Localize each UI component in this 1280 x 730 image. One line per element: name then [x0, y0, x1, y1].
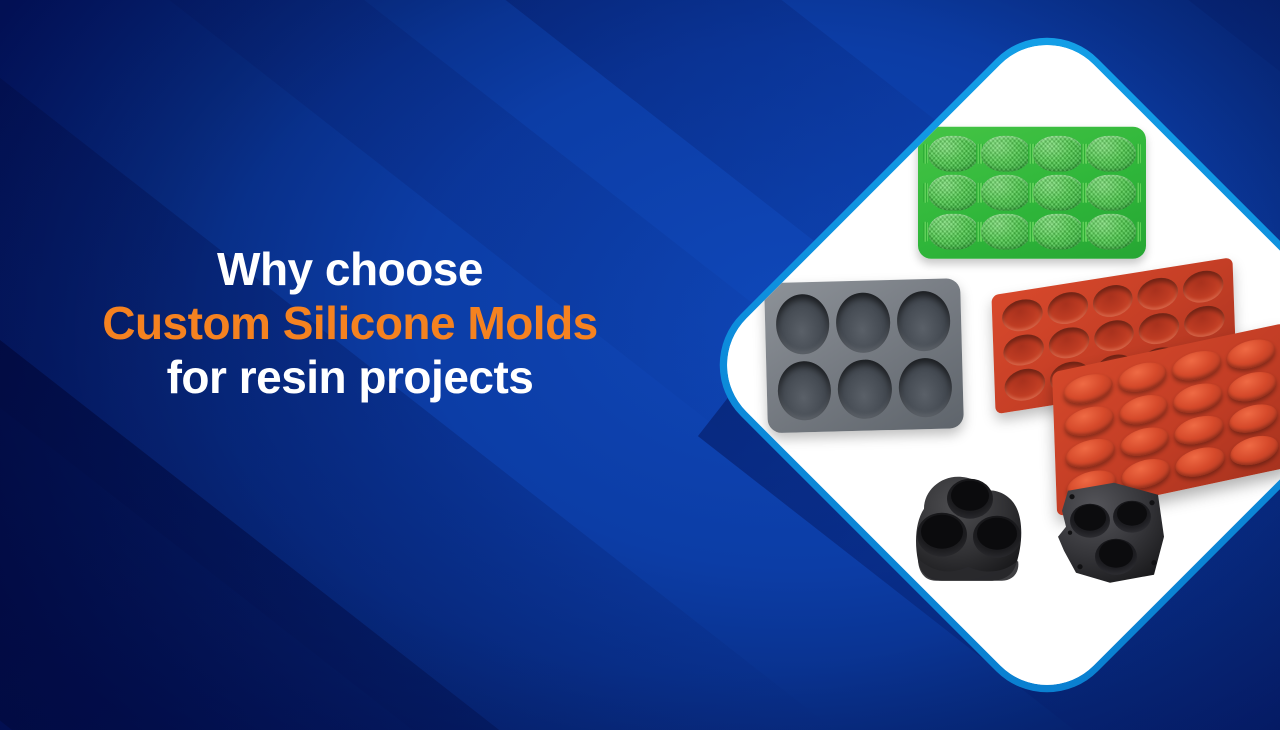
mold-cavity [1002, 296, 1043, 333]
mold-cavity [1120, 422, 1169, 459]
mold-cavity [928, 213, 979, 249]
mold-cavity [1065, 434, 1114, 471]
mold-cavity [1175, 443, 1224, 480]
mold-cavity [1173, 378, 1222, 415]
mold-cavity [1048, 324, 1089, 361]
mold-cavity [1064, 401, 1113, 438]
mold-cavity [1228, 399, 1277, 436]
mold-cavity [1086, 174, 1137, 210]
mold-cavity [1227, 367, 1276, 404]
mold-cavity [1139, 309, 1180, 346]
mold-cavity [1003, 331, 1044, 368]
mold-cavity [1119, 390, 1168, 427]
headline-line-3: for resin projects [0, 351, 700, 405]
mold-cavity [836, 291, 891, 352]
mold-cavity [928, 174, 979, 210]
mold-cavity [1184, 302, 1225, 339]
mold-cavity [1226, 335, 1275, 372]
mold-cavity [981, 174, 1032, 210]
mold-cavity [1033, 213, 1084, 249]
mold-cavity [928, 135, 979, 171]
diamond-photo-mask [700, 18, 1280, 712]
mold-cavity [777, 359, 832, 420]
product-photo-panel [700, 18, 1280, 712]
mold-cavity [981, 135, 1032, 171]
headline-block: Why choose Custom Silicone Molds for res… [0, 243, 700, 404]
product-photo-collage [700, 18, 1280, 712]
mold-cavity [1033, 135, 1084, 171]
headline-line-2-highlight: Custom Silicone Molds [0, 297, 700, 351]
mold-cavity [898, 356, 953, 417]
mold-cavity [1174, 411, 1223, 448]
mold-cavity [1093, 316, 1134, 353]
mold-cavity [896, 290, 951, 351]
mold-cavity [1092, 281, 1133, 318]
black-rubber-three-port-part [906, 468, 1032, 584]
mold-cavity [837, 358, 892, 419]
mold-cavity [1172, 346, 1221, 383]
mold-cavity [981, 213, 1032, 249]
mold-cavity [1047, 289, 1088, 326]
mold-cavity [1117, 358, 1166, 395]
black-rubber-flanged-three-port-part [1054, 476, 1172, 588]
promo-banner: Why choose Custom Silicone Molds for res… [0, 0, 1280, 730]
mold-cavity [1004, 366, 1045, 403]
mold-cavity [1183, 267, 1224, 304]
mold-cavity [1063, 369, 1112, 406]
green-pineapple-mold-tray [918, 126, 1146, 258]
mold-cavity [1229, 431, 1278, 468]
mold-cavity [775, 293, 830, 354]
mold-cavity [1137, 274, 1178, 311]
mold-cavity [1086, 213, 1137, 249]
grey-six-cavity-round-mold [764, 277, 964, 432]
headline-line-1: Why choose [0, 243, 700, 297]
mold-cavity [1086, 135, 1137, 171]
mold-cavity [1033, 174, 1084, 210]
